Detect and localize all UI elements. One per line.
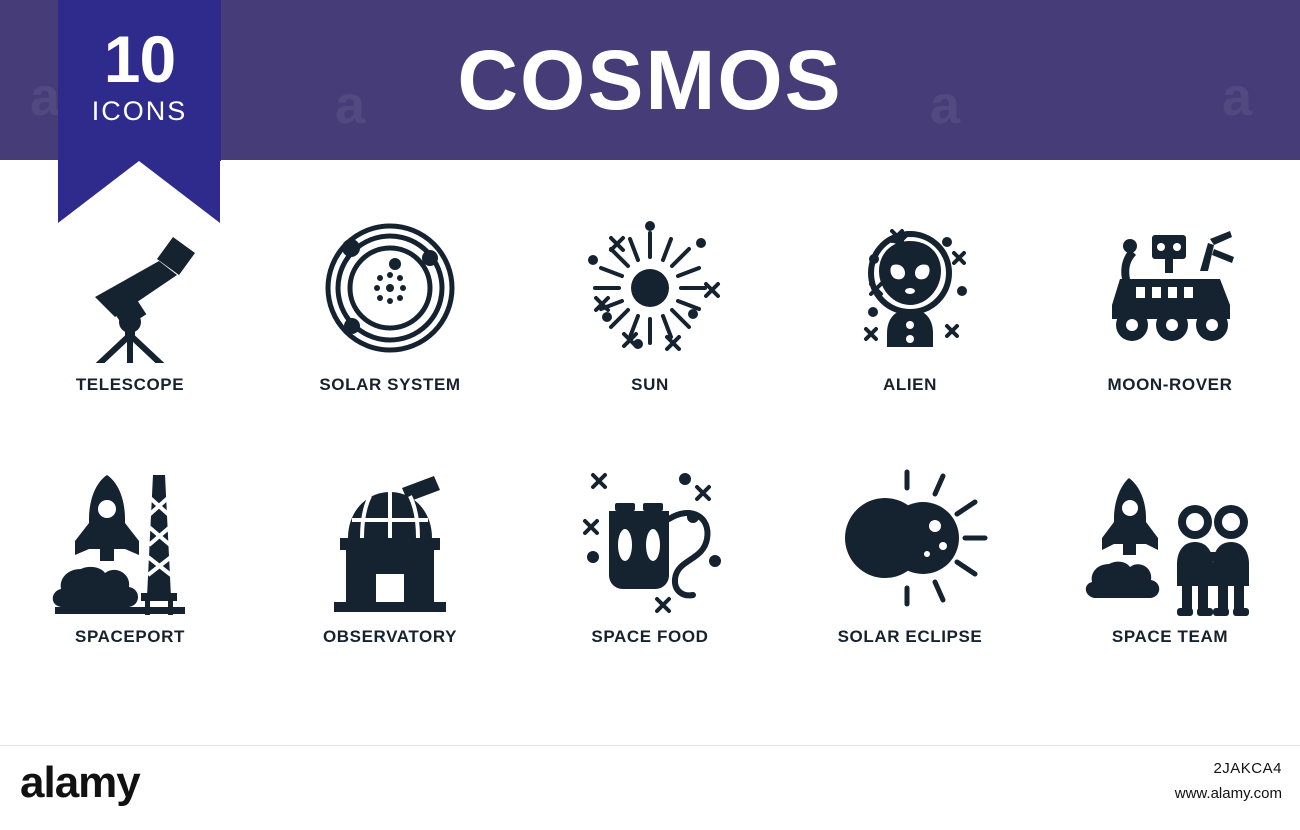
solar-system-caption: SOLAR SYSTEM xyxy=(319,375,460,395)
icon-cell-moon-rover[interactable]: MOON-ROVER xyxy=(1040,200,1300,460)
image-id: 2JAKCA4 xyxy=(1175,760,1282,777)
icon-cell-observatory[interactable]: OBSERVATORY xyxy=(260,452,520,712)
badge-pointer xyxy=(58,161,220,223)
telescope-icon xyxy=(55,200,205,375)
icon-count-value: 10 xyxy=(58,0,221,92)
footer-bar: alamy 2JAKCA4 www.alamy.com xyxy=(0,745,1300,830)
icon-count-label: ICONS xyxy=(58,92,221,125)
solar-eclipse-caption: SOLAR ECLIPSE xyxy=(838,627,983,647)
icon-grid: TELESCOPE xyxy=(0,200,1300,720)
solar-system-icon xyxy=(315,200,465,375)
alien-icon xyxy=(835,200,985,375)
spaceport-caption: SPACEPORT xyxy=(75,627,185,647)
icon-row-2: SPACEPORT xyxy=(0,452,1300,712)
observatory-caption: OBSERVATORY xyxy=(323,627,457,647)
space-food-icon xyxy=(565,452,735,627)
icon-cell-space-food[interactable]: SPACE FOOD xyxy=(520,452,780,712)
icon-cell-space-team[interactable]: SPACE TEAM xyxy=(1040,452,1300,712)
moon-rover-icon xyxy=(1090,200,1250,375)
icon-cell-sun[interactable]: SUN xyxy=(520,200,780,460)
observatory-icon xyxy=(310,452,470,627)
sun-icon xyxy=(575,200,725,375)
spaceport-icon xyxy=(45,452,215,627)
space-team-icon xyxy=(1085,452,1255,627)
footer-meta: 2JAKCA4 www.alamy.com xyxy=(1175,760,1282,802)
moon-rover-caption: MOON-ROVER xyxy=(1108,375,1233,395)
footer-spacer xyxy=(0,722,1300,745)
space-food-caption: SPACE FOOD xyxy=(591,627,708,647)
space-team-caption: SPACE TEAM xyxy=(1112,627,1228,647)
sun-caption: SUN xyxy=(631,375,669,395)
alien-caption: ALIEN xyxy=(883,375,937,395)
icon-cell-solar-eclipse[interactable]: SOLAR ECLIPSE xyxy=(780,452,1040,712)
alamy-url[interactable]: www.alamy.com xyxy=(1175,785,1282,802)
icon-cell-spaceport[interactable]: SPACEPORT xyxy=(0,452,260,712)
icon-row-1: TELESCOPE xyxy=(0,200,1300,460)
telescope-caption: TELESCOPE xyxy=(76,375,184,395)
solar-eclipse-icon xyxy=(825,452,995,627)
icon-count-badge: 10 ICONS xyxy=(58,0,221,161)
icon-cell-telescope[interactable]: TELESCOPE xyxy=(0,200,260,460)
alamy-logo: alamy xyxy=(20,758,140,808)
icon-cell-solar-system[interactable]: SOLAR SYSTEM xyxy=(260,200,520,460)
icon-cell-alien[interactable]: ALIEN xyxy=(780,200,1040,460)
